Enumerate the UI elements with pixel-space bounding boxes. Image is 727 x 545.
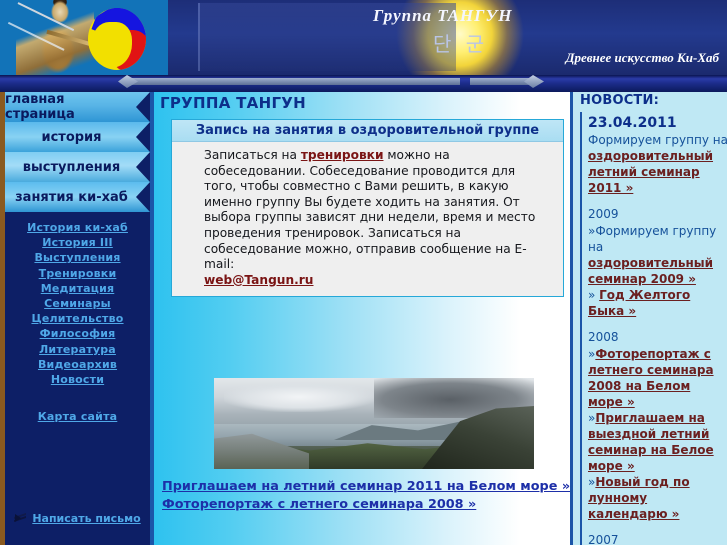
sidebar-link-literature[interactable]: Литература [5,342,150,357]
news-link-lunar-new-year[interactable]: Новый год по лунному календарю » [588,475,690,521]
archer-figure-image [16,0,94,75]
sidebar-link-performances[interactable]: Выступления [5,250,150,265]
envelope-icon [14,514,27,523]
news-bullet: » [588,288,599,302]
sidebar-link-sitemap[interactable]: Карта сайта [5,409,150,424]
news-item: »Приглашаем на выездной летний семинар н… [588,410,727,474]
news-item: »Фоторепортаж с летнего семинара 2008 на… [588,346,727,410]
menu-item-home[interactable]: главная страница [5,92,150,122]
taegeuk-logo-icon [88,8,146,70]
menu-item-label: занятия ки-хаб [15,190,140,205]
news-date: 23.04.2011 [588,114,727,132]
sidebar-link-meditation[interactable]: Медитация [5,281,150,296]
link-photoreport-2008[interactable]: Фоторепортаж с летнего семинара 2008 » [162,496,570,514]
header-hangul-dangun: 단 군 [433,28,488,57]
trainings-link[interactable]: тренировки [301,148,384,162]
enrollment-card: Запись на занятия в оздоровительной груп… [171,119,564,297]
menu-item-history[interactable]: история [5,122,150,152]
news-link-seminar-2009[interactable]: оздоровительный семинар 2009 » [588,256,713,286]
news-year-2009: 2009 [588,206,727,223]
news-link-photoreport-2008[interactable]: Фоторепортаж с летнего семинара 2008 на … [588,347,714,409]
sidebar-link-seminars[interactable]: Семинары [5,296,150,311]
sidebar-link-history-kihab[interactable]: История ки-хаб [5,220,150,235]
spear-shaft-right [470,78,530,85]
sidebar-link-healing[interactable]: Целительство [5,311,150,326]
enrollment-card-body: Записаться на тренировки можно на собесе… [172,142,563,296]
menu-item-label: главная страница [5,92,150,122]
enrollment-text-1: Записаться на [204,148,301,162]
sidebar-link-philosophy[interactable]: Философия [5,326,150,341]
header-tagline: Древнее искусство Ки-Хаб [566,50,719,66]
header-logo-area [0,0,168,75]
menu-item-label: история [41,130,113,145]
spear-tip-left-icon [118,75,138,88]
left-sidebar: главная страница история выступления зан… [0,92,150,545]
main-menu: главная страница история выступления зан… [5,92,150,212]
write-letter-row[interactable]: Написать письмо [5,512,150,525]
news-item: »Формируем группу на оздоровительный сем… [588,223,727,287]
page-root: Группа ТАНГУН 단 군 기합 Древнее искусство К… [0,0,727,545]
main-content: ГРУППА ТАНГУН Запись на занятия в оздоро… [150,92,570,545]
news-list: 23.04.2011 Формируем группу на оздоровит… [580,112,727,545]
news-year-2008: 2008 [588,329,727,346]
news-lead: Формируем группу на [588,133,727,147]
news-item: » Год Желтого Быка » [588,287,727,319]
news-year-2007: 2007 [588,532,727,545]
sidebar-link-write-letter[interactable]: Написать письмо [32,512,140,525]
sidebar-link-news[interactable]: Новости [5,372,150,387]
news-title: НОВОСТИ: [580,93,659,108]
seminar-panorama-photo [214,378,534,469]
header-title: Группа ТАНГУН [373,6,512,26]
photo-cloud-light [224,382,374,412]
news-sidebar: НОВОСТИ: 23.04.2011 Формируем группу на … [570,92,727,545]
news-item: Формируем группу на оздоровительный летн… [588,132,727,196]
menu-item-kihab-classes[interactable]: занятия ки-хаб [5,182,150,212]
sidebar-link-trainings[interactable]: Тренировки [5,266,150,281]
spear-shaft-left [130,78,460,85]
menu-item-performances[interactable]: выступления [5,152,150,182]
header-banner: Группа ТАНГУН 단 군 기합 Древнее искусство К… [168,0,727,75]
sidebar-link-list: История ки-хаб История III Выступления Т… [5,220,150,424]
page-title: ГРУППА ТАНГУН [160,94,306,112]
site-header: Группа ТАНГУН 단 군 기합 Древнее искусство К… [0,0,727,92]
email-link[interactable]: web@Tangun.ru [204,273,551,289]
news-link-seminar-2011[interactable]: оздоровительный летний семинар 2011 » [588,149,713,195]
menu-item-label: выступления [23,160,132,175]
news-link-yellow-ox-year[interactable]: Год Желтого Быка » [588,288,690,318]
news-item: »Новый год по лунному календарю » [588,474,727,522]
sidebar-link-history-3[interactable]: История III [5,235,150,250]
link-summer-seminar-2011[interactable]: Приглашаем на летний семинар 2011 на Бел… [162,478,570,496]
news-lead: Формируем группу на [588,224,716,254]
main-links-list: Приглашаем на летний семинар 2011 на Бел… [162,478,570,514]
spear-tip-right-icon [524,75,544,88]
header-divider-bar [0,75,727,92]
sidebar-link-videoarchive[interactable]: Видеоархив [5,357,150,372]
news-link-white-sea-seminar[interactable]: Приглашаем на выездной летний семинар на… [588,411,714,473]
enrollment-text-2: можно на собеседовании. Собеседование пр… [204,148,535,271]
enrollment-card-heading: Запись на занятия в оздоровительной груп… [172,120,563,142]
